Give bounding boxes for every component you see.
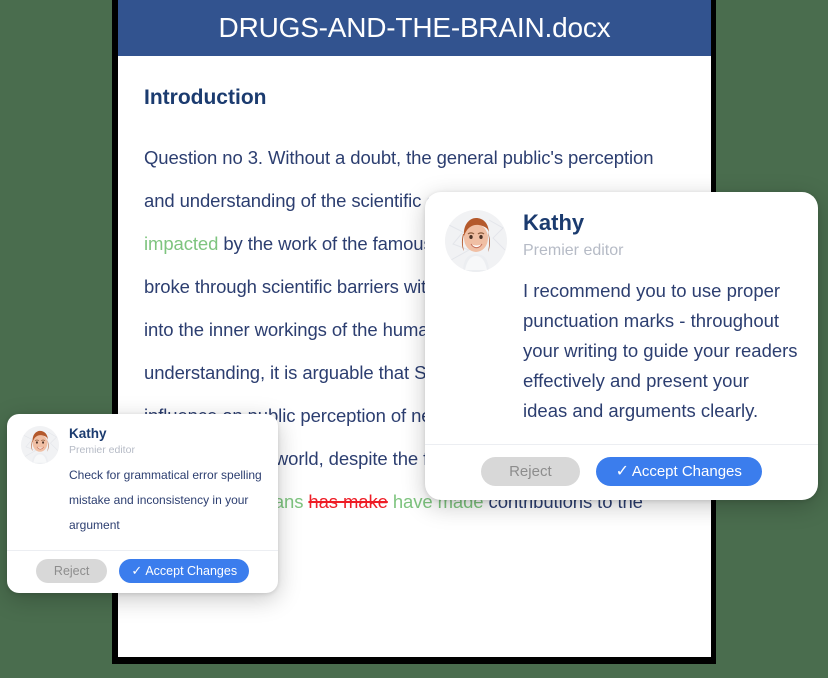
accept-changes-button[interactable]: ✓Accept Changes [596,457,762,486]
accept-changes-button[interactable]: ✓Accept Changes [119,559,249,583]
check-icon: ✓ [616,464,629,480]
comment-card-left-content: Kathy Premier editor Check for grammatic… [7,414,278,550]
document-titlebar: DRUGS-AND-THE-BRAIN.docx [118,0,711,56]
comment-card-left-actions: Reject ✓Accept Changes [7,550,278,593]
document-heading: Introduction [144,86,685,110]
comment-card-left[interactable]: Kathy Premier editor Check for grammatic… [7,414,278,593]
avatar [21,426,59,464]
comment-message: Check for grammatical error spelling mis… [69,463,264,538]
document-title: DRUGS-AND-THE-BRAIN.docx [219,12,611,44]
reject-button[interactable]: Reject [36,559,107,583]
comment-card-right-text: Kathy Premier editor I recommend you to … [523,210,798,426]
accept-changes-label: Accept Changes [632,463,742,480]
check-icon: ✓ [131,564,142,577]
deleted-text: has make [308,491,387,512]
accept-changes-label: Accept Changes [145,564,237,578]
avatar [445,210,507,272]
comment-card-right[interactable]: Kathy Premier editor I recommend you to … [425,192,818,500]
comment-card-right-actions: Reject ✓Accept Changes [425,444,818,500]
comment-card-left-text: Kathy Premier editor Check for grammatic… [69,426,264,538]
comment-author-name: Kathy [69,426,264,442]
comment-card-right-content: Kathy Premier editor I recommend you to … [425,192,818,444]
comment-author-role: Premier editor [69,443,264,457]
comment-message: I recommend you to use proper punctuatio… [523,276,798,426]
reject-button[interactable]: Reject [481,457,580,486]
comment-author-name: Kathy [523,210,798,236]
comment-author-role: Premier editor [523,238,798,264]
